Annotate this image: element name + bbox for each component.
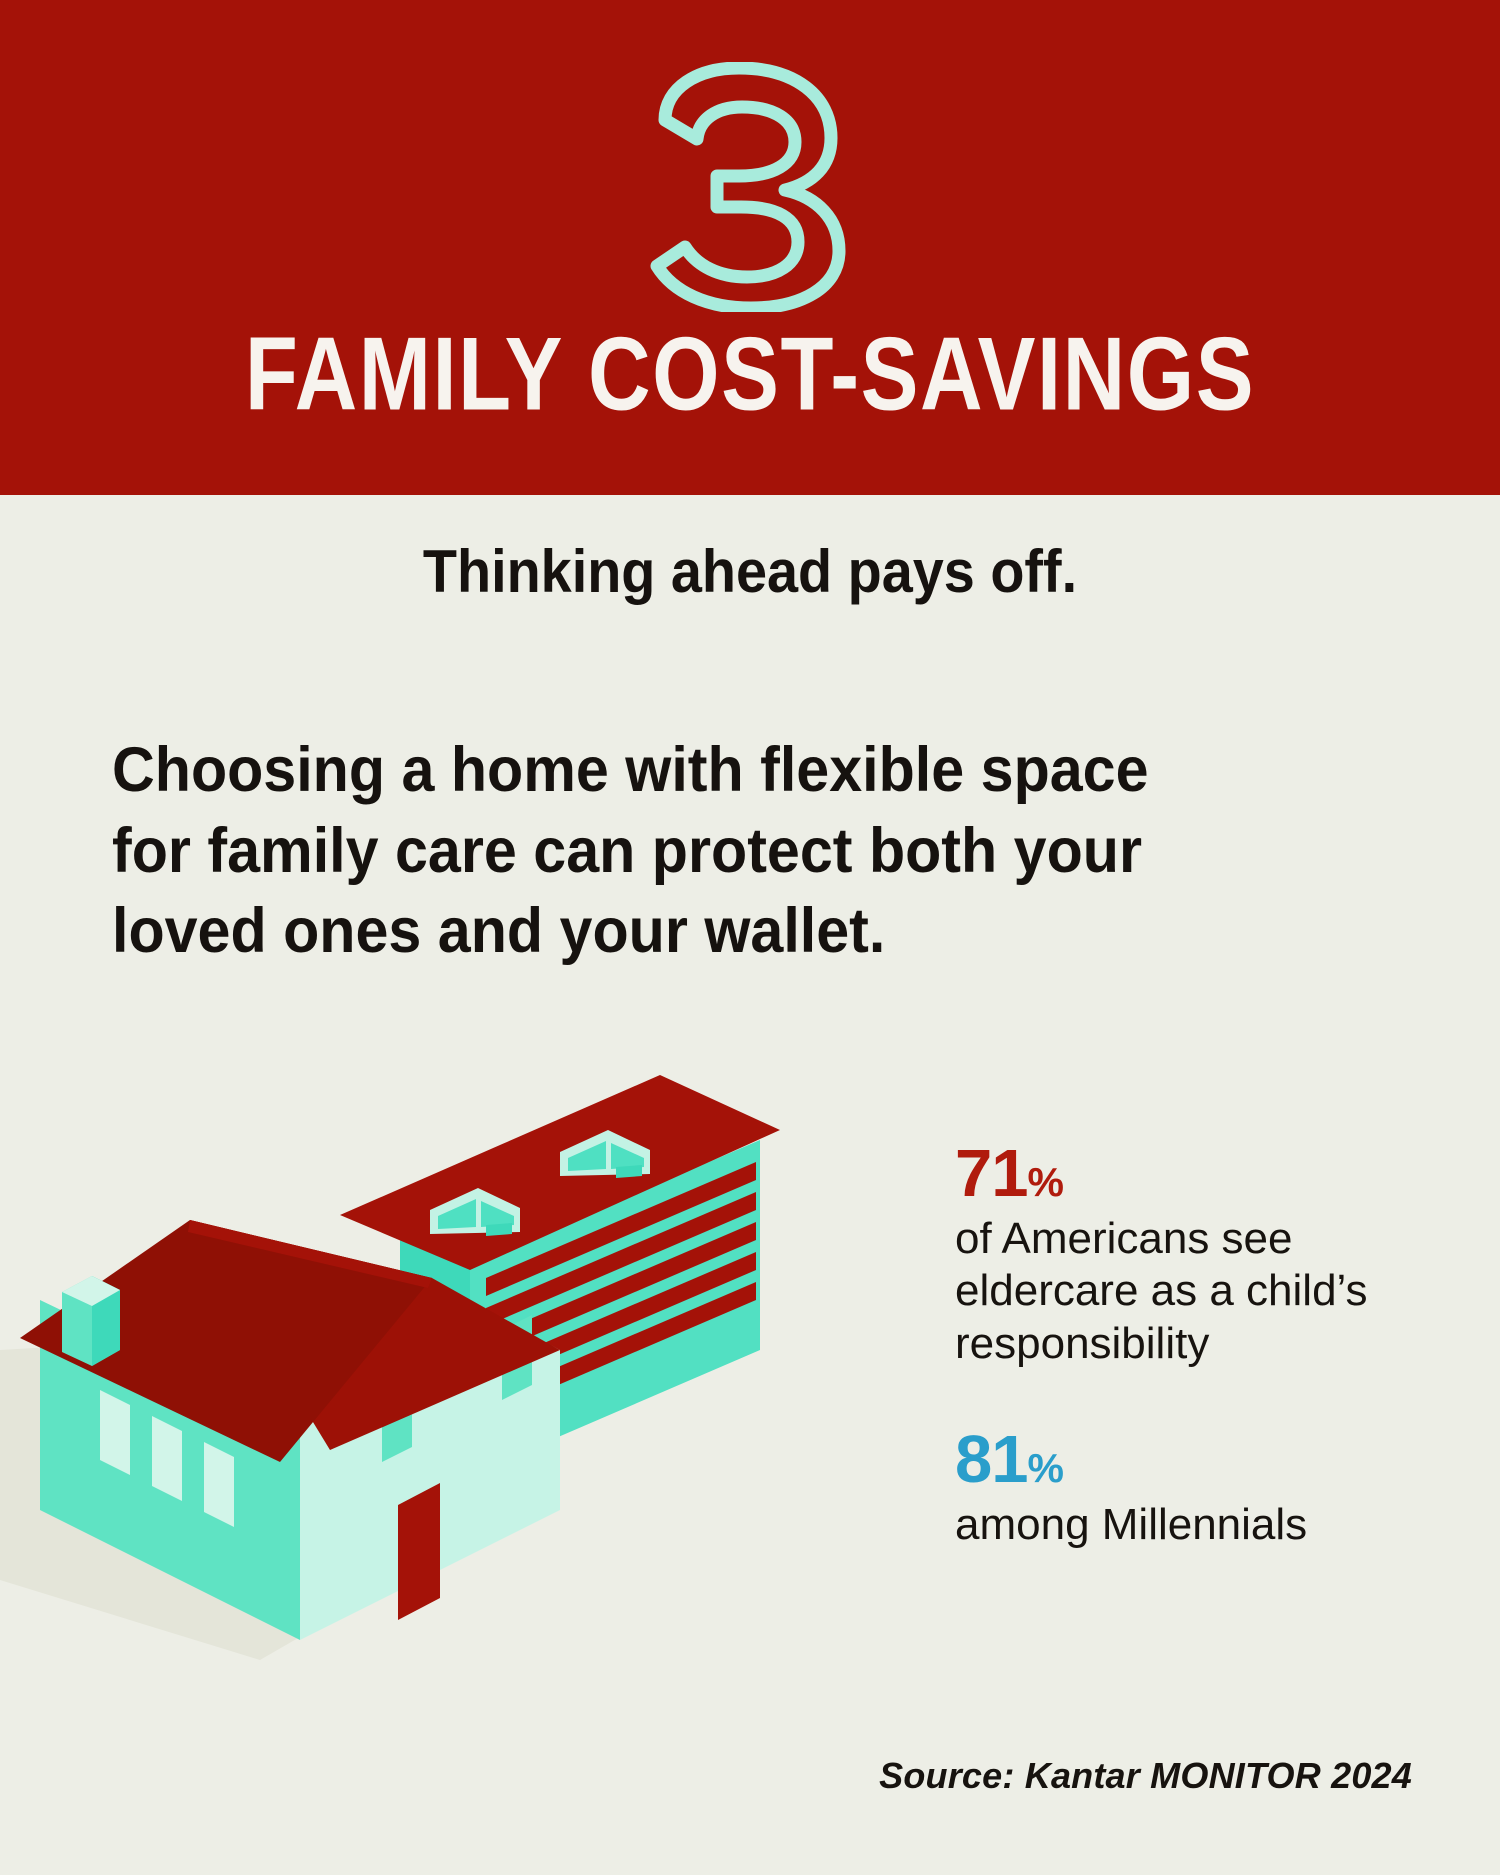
paragraph-line: for family care can protect both your xyxy=(112,811,1343,892)
paragraph-line: loved ones and your wallet. xyxy=(112,891,1343,972)
isometric-house-illustration xyxy=(0,1020,900,1680)
stat-description-line: among Millennials xyxy=(955,1499,1445,1551)
stat-percent-sign: % xyxy=(1028,1159,1064,1205)
section-number xyxy=(0,62,1500,312)
stat-number: 81 xyxy=(955,1422,1028,1497)
header-banner: FAMILY COST-SAVINGS xyxy=(0,0,1500,495)
statistics-panel: 71% of Americans see eldercare as a chil… xyxy=(955,1140,1445,1607)
house-graphic xyxy=(0,1020,900,1680)
stat-number: 71 xyxy=(955,1136,1028,1211)
stat-value: 71% xyxy=(955,1140,1445,1207)
stat-description: of Americans see eldercare as a child’s … xyxy=(955,1213,1445,1370)
paragraph-line: Choosing a home with flexible space xyxy=(112,730,1343,811)
stat-description-line: responsibility xyxy=(955,1318,1445,1370)
stat-percent-sign: % xyxy=(1028,1445,1064,1491)
source-citation: Source: Kantar MONITOR 2024 xyxy=(879,1755,1412,1797)
stat-block: 81% among Millennials xyxy=(955,1426,1445,1551)
stat-description-line: of Americans see xyxy=(955,1213,1445,1265)
page-title: FAMILY COST-SAVINGS xyxy=(0,323,1500,427)
outlined-numeral-three-icon xyxy=(635,62,865,312)
front-door xyxy=(398,1483,440,1620)
chimney xyxy=(62,1276,120,1366)
stat-description-line: eldercare as a child’s xyxy=(955,1265,1445,1317)
stat-description: among Millennials xyxy=(955,1499,1445,1551)
lede-text: Thinking ahead pays off. xyxy=(53,540,1448,603)
stat-value: 81% xyxy=(955,1426,1445,1493)
body-paragraph: Choosing a home with flexible space for … xyxy=(112,730,1343,972)
stat-block: 71% of Americans see eldercare as a chil… xyxy=(955,1140,1445,1370)
